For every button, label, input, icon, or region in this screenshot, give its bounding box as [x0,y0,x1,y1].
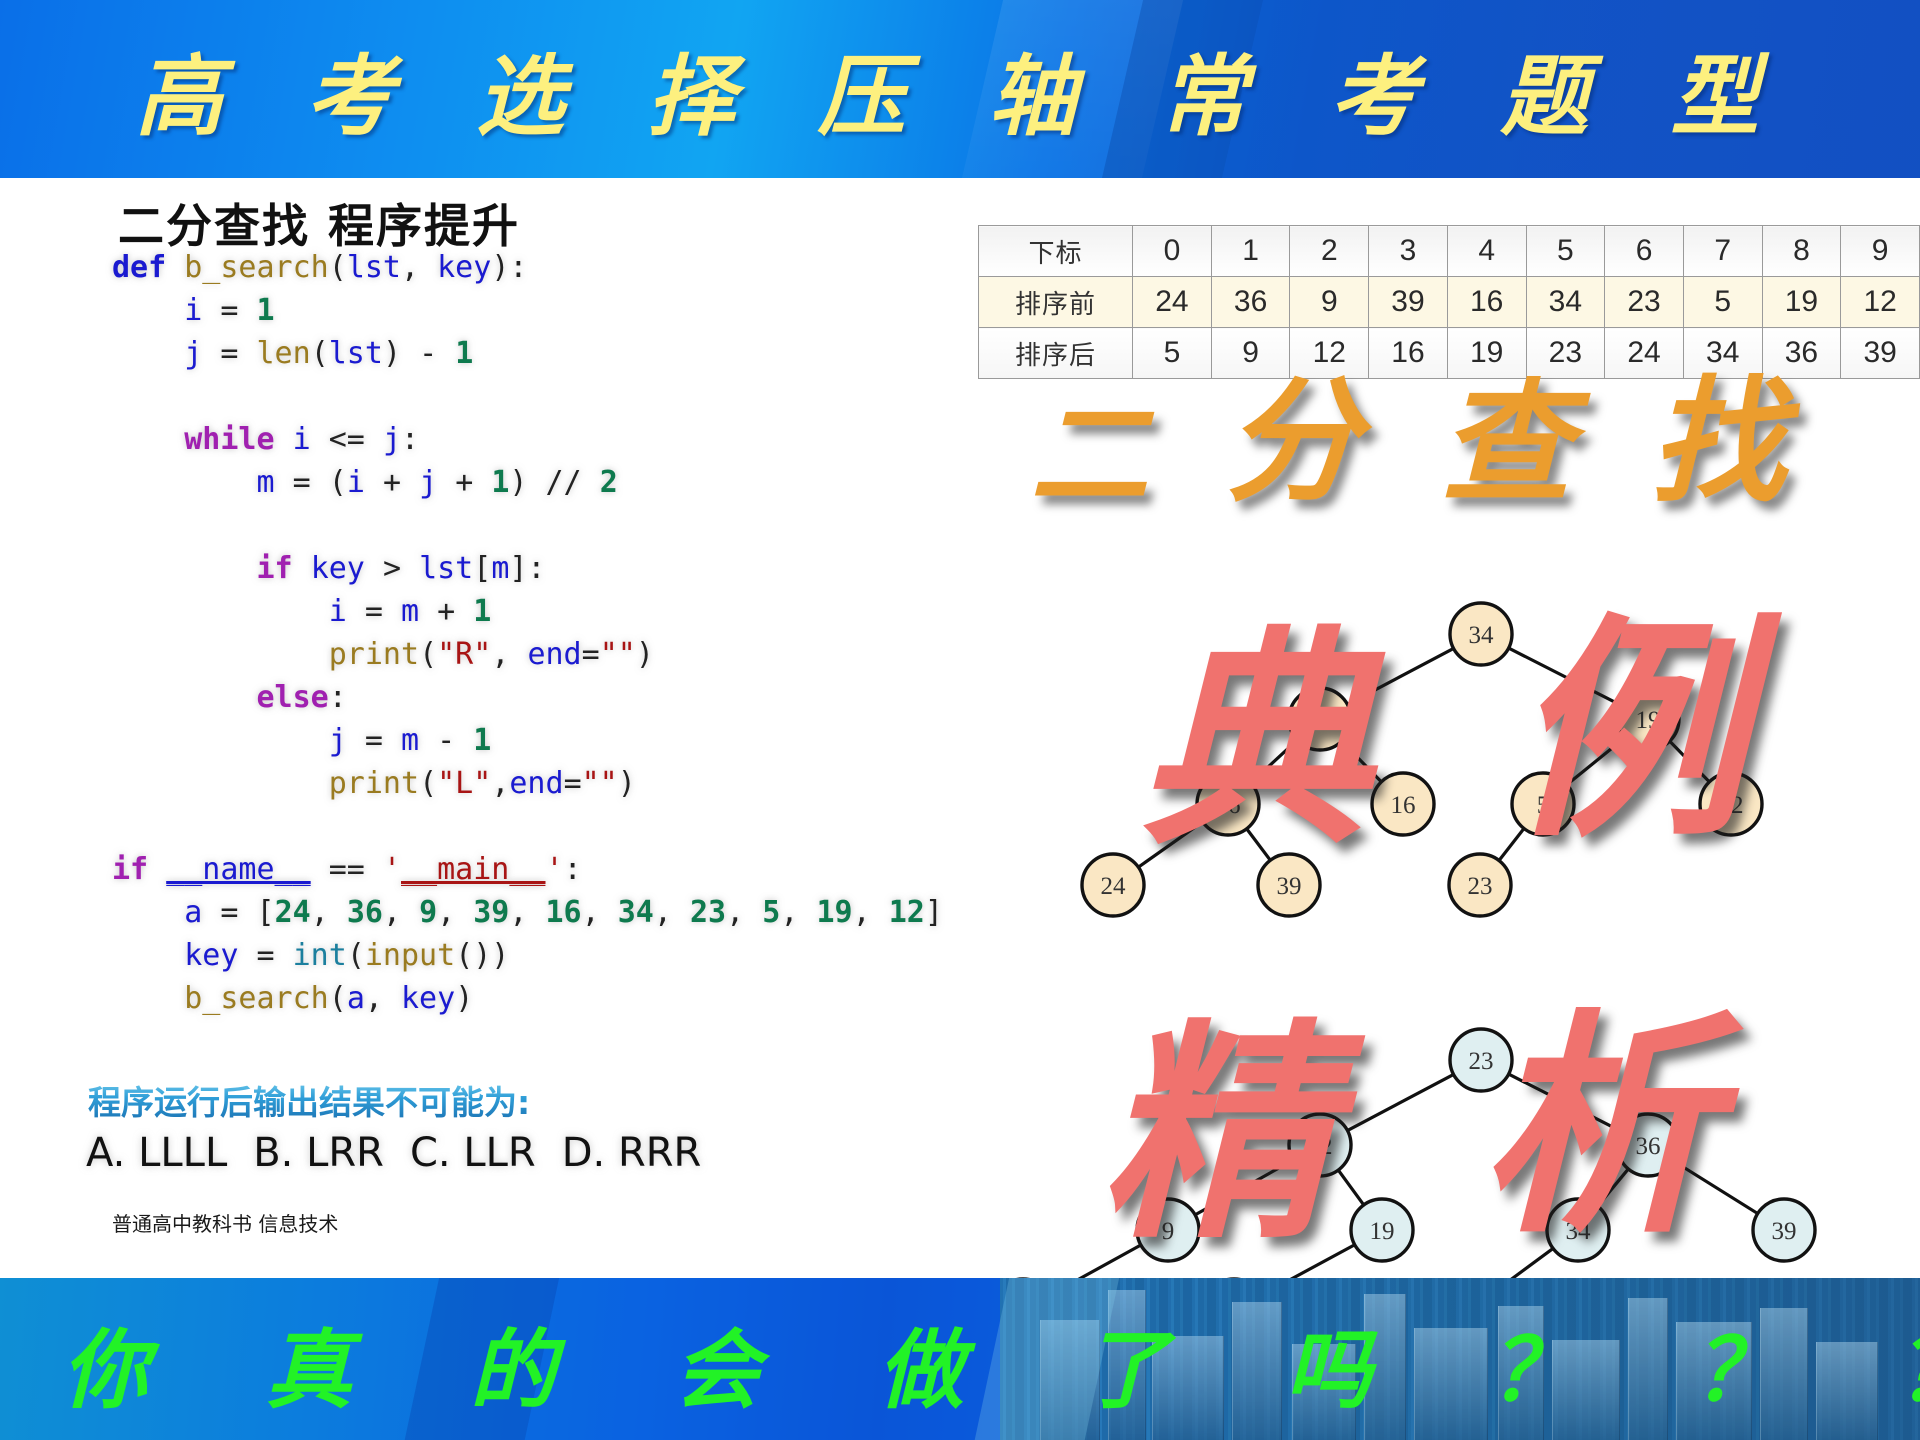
tree-edge [1509,648,1621,705]
tree-node-label: 16 [1391,792,1416,819]
slide-body: 二分查找 程序提升 def b_search(lst, key): i = 1 … [0,178,1920,1254]
tree-node-label: 19 [1636,707,1661,734]
tree-edge [1567,739,1624,785]
tree-node-label: 24 [1101,873,1127,900]
tree-edge [1138,822,1202,867]
tree-node-label: 36 [1216,792,1241,819]
tree-node-label: 5 [1537,792,1550,819]
bottom-banner: 你 真 的 会 做 了 吗 ？ ？ ？ [0,1278,1920,1440]
tree-node-label: 34 [1469,622,1495,649]
tree-node-label: 23 [1468,873,1493,900]
tree-node-label: 12 [1719,792,1744,819]
tree-node-label: 36 [1636,1133,1661,1160]
page-title: 高 考 选 择 压 轴 常 考 题 型 [0,26,1920,153]
tree-node-label: 9 [1314,707,1327,734]
tree-edge [1509,1074,1621,1131]
tree-edge [1347,648,1453,704]
tree-edge [1247,829,1271,860]
binary-search-tree-diagrams: 349193616512243923231236919343951624 [0,178,1920,1440]
tree-node-label: 9 [1162,1218,1175,1245]
tree-edge [1195,1160,1293,1215]
tree-edge [1670,741,1710,782]
binary-tree-unsorted: 349193616512243923 [1082,603,1762,916]
tree-node-label: 23 [1469,1048,1494,1075]
tree-node-label: 12 [1308,1133,1333,1160]
tree-node-label: 19 [1370,1218,1395,1245]
tree-edge [1251,740,1297,783]
tree-edge [1674,1161,1757,1213]
tree-edge [1342,741,1382,782]
tree-node-label: 34 [1566,1218,1592,1245]
tree-edge [1347,1074,1453,1130]
tree-edge [1499,828,1524,860]
tree-edge [1598,1169,1629,1206]
tree-node-label: 39 [1277,873,1302,900]
tree-node-label: 39 [1772,1218,1797,1245]
closing-question-title: 你 真 的 会 做 了 吗 ？ ？ ？ [0,1300,1920,1425]
top-banner: 高 考 选 择 压 轴 常 考 题 型 [0,0,1920,178]
tree-edge [1338,1170,1363,1205]
